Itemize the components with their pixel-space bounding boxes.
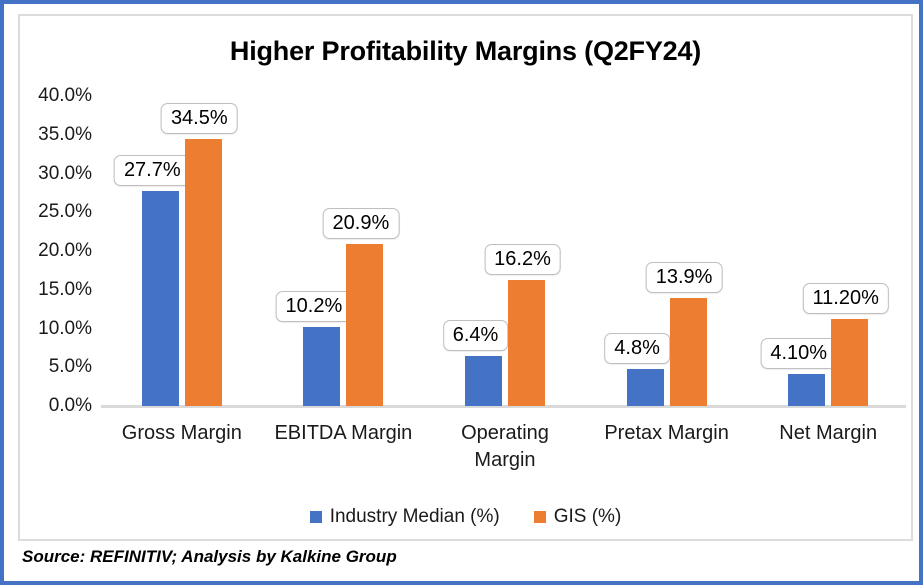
- y-axis-tick-labels: 40.0%35.0%30.0%25.0%20.0%15.0%10.0%5.0%0…: [20, 96, 96, 406]
- legend-swatch-icon: [310, 511, 322, 523]
- x-axis-category-labels: Gross MarginEBITDA MarginOperating Margi…: [101, 420, 909, 490]
- bar-gis: [831, 319, 868, 406]
- legend-swatch-icon: [534, 511, 546, 523]
- bar-industry-median: [788, 374, 825, 406]
- chart-screenshot: Higher Profitability Margins (Q2FY24) 40…: [0, 0, 923, 585]
- bar-gis: [670, 298, 707, 406]
- data-label: 6.4%: [443, 320, 509, 351]
- legend-item[interactable]: GIS (%): [534, 506, 622, 528]
- data-label: 10.2%: [276, 291, 353, 322]
- data-label: 4.8%: [604, 333, 670, 364]
- y-axis-tick: 5.0%: [49, 356, 92, 378]
- bar-industry-median: [627, 369, 664, 406]
- y-axis-tick: 25.0%: [38, 201, 92, 223]
- bar-industry-median: [142, 191, 179, 406]
- chart-title: Higher Profitability Margins (Q2FY24): [20, 36, 911, 67]
- chart-legend: Industry Median (%)GIS (%): [20, 506, 911, 528]
- plot-area: 27.7%34.5%10.2%20.9%6.4%16.2%4.8%13.9%4.…: [101, 96, 909, 406]
- legend-label: Industry Median (%): [330, 506, 500, 528]
- y-axis-tick: 40.0%: [38, 85, 92, 107]
- data-label: 20.9%: [323, 208, 400, 239]
- y-axis-tick: 35.0%: [38, 124, 92, 146]
- chart-frame: Higher Profitability Margins (Q2FY24) 40…: [18, 14, 913, 541]
- data-label: 27.7%: [114, 155, 191, 186]
- bar-industry-median: [465, 356, 502, 406]
- data-label: 4.10%: [760, 338, 837, 369]
- bar-gis: [508, 280, 545, 406]
- bar-gis: [346, 244, 383, 406]
- x-axis-category: Operating Margin: [430, 420, 580, 474]
- x-axis-category: Gross Margin: [107, 420, 257, 447]
- x-axis-category: EBITDA Margin: [268, 420, 418, 447]
- y-axis-tick: 20.0%: [38, 240, 92, 262]
- x-axis-category: Pretax Margin: [592, 420, 742, 447]
- bar-industry-median: [303, 327, 340, 406]
- bar-gis: [185, 139, 222, 406]
- x-axis-category: Net Margin: [753, 420, 903, 447]
- data-label: 34.5%: [161, 103, 238, 134]
- data-label: 13.9%: [646, 262, 723, 293]
- source-note: Source: REFINITIV; Analysis by Kalkine G…: [22, 547, 397, 567]
- y-axis-tick: 15.0%: [38, 279, 92, 301]
- legend-label: GIS (%): [554, 506, 622, 528]
- y-axis-tick: 0.0%: [49, 395, 92, 417]
- data-label: 16.2%: [484, 244, 561, 275]
- y-axis-tick: 30.0%: [38, 163, 92, 185]
- y-axis-tick: 10.0%: [38, 318, 92, 340]
- legend-item[interactable]: Industry Median (%): [310, 506, 500, 528]
- data-label: 11.20%: [803, 283, 889, 314]
